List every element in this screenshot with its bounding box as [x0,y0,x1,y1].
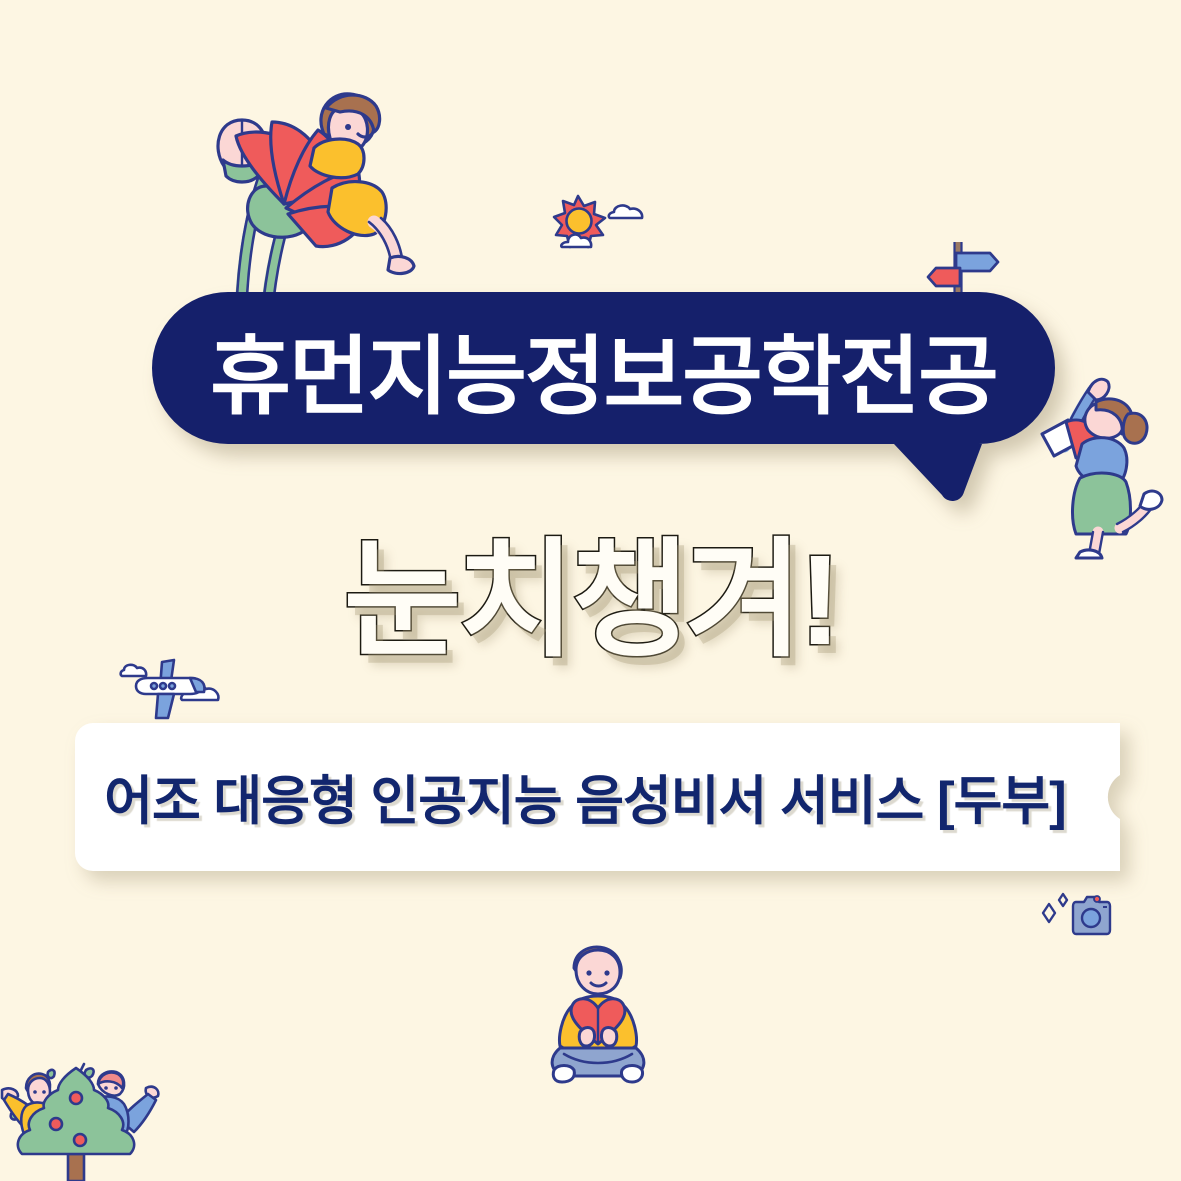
poster-canvas: 휴먼지능정보공학전공 눈치챙겨! [0,0,1181,1181]
sun-with-clouds-icon [548,190,648,260]
camera-with-sparkles-icon [1040,892,1112,940]
person-holding-heart-illustration [528,940,668,1090]
headline-title: 눈치챙겨! [0,496,1181,681]
subtitle-bar: 어조 대응형 인공지능 음성비서 서비스 [두부] [75,723,1120,871]
subtitle-title: 어조 대응형 인공지능 음성비서 서비스 [두부] [75,723,1095,871]
two-people-behind-tree-illustration [0,1050,160,1181]
banner-title: 휴먼지능정보공학전공 [143,292,1064,444]
department-banner: 휴먼지능정보공학전공 [152,292,1055,502]
